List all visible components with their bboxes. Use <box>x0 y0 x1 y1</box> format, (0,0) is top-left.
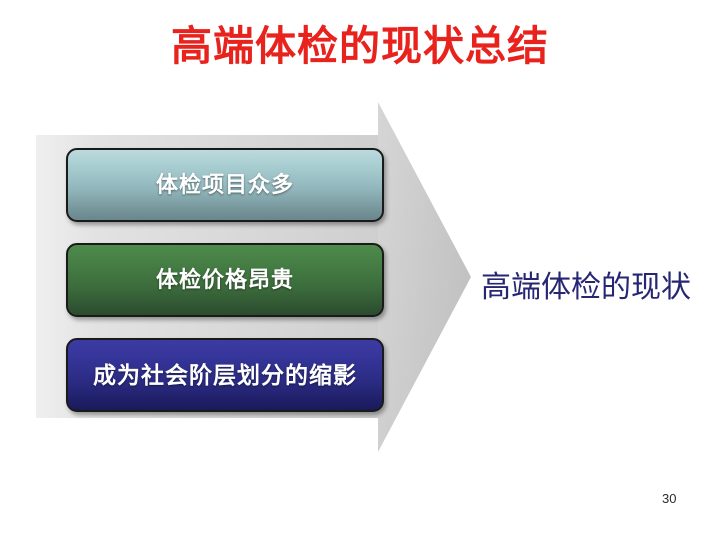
arrow-callout-label: 高端体检的现状 <box>481 270 691 306</box>
process-box-label: 成为社会阶层划分的缩影 <box>93 362 357 388</box>
arrow-head <box>378 102 471 452</box>
page-title: 高端体检的现状总结 <box>0 22 720 70</box>
page-number: 30 <box>662 491 676 507</box>
process-box-1[interactable]: 体检项目众多 <box>66 148 384 222</box>
process-box-label: 体检价格昂贵 <box>156 267 294 293</box>
process-box-3[interactable]: 成为社会阶层划分的缩影 <box>66 338 384 412</box>
process-box-label: 体检项目众多 <box>156 172 294 198</box>
process-box-2[interactable]: 体检价格昂贵 <box>66 243 384 317</box>
presentation-slide: 高端体检的现状总结 体检项目众多 体检价 <box>0 0 720 540</box>
